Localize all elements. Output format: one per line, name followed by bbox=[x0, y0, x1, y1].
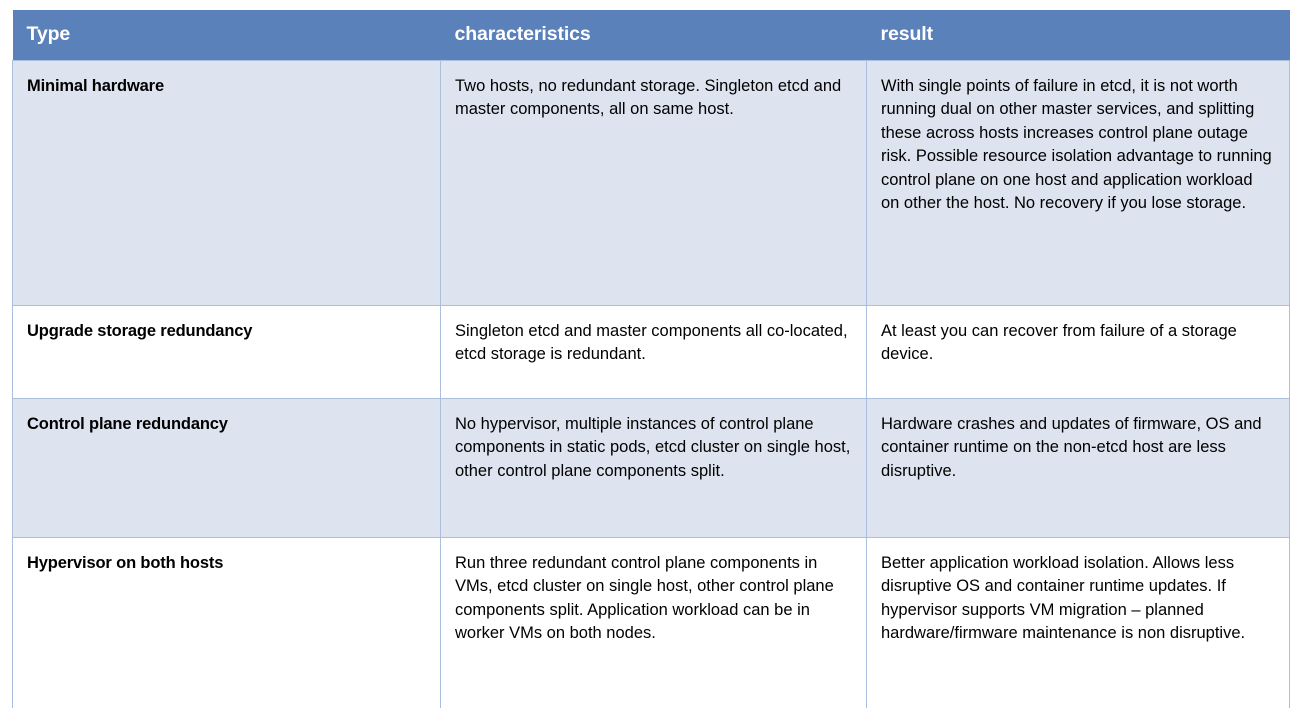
cell-type-text: Minimal hardware bbox=[27, 75, 426, 98]
cell-result-text: At least you can recover from failure of… bbox=[881, 320, 1275, 367]
cell-result: At least you can recover from failure of… bbox=[867, 306, 1290, 399]
cell-result: With single points of failure in etcd, i… bbox=[867, 61, 1290, 306]
cell-characteristics-text: Two hosts, no redundant storage. Singlet… bbox=[455, 75, 852, 122]
cell-characteristics-text: Singleton etcd and master components all… bbox=[455, 320, 852, 367]
cell-type: Minimal hardware bbox=[13, 61, 441, 306]
cell-type: Upgrade storage redundancy bbox=[13, 306, 441, 399]
cell-result-text: Hardware crashes and updates of firmware… bbox=[881, 413, 1275, 483]
table-row: Minimal hardware Two hosts, no redundant… bbox=[13, 61, 1290, 306]
page-root: Type characteristics result Minimal hard… bbox=[0, 0, 1302, 708]
table-header-row: Type characteristics result bbox=[13, 10, 1290, 61]
cell-type-text: Control plane redundancy bbox=[27, 413, 426, 436]
table-row: Control plane redundancy No hypervisor, … bbox=[13, 399, 1290, 538]
cell-type: Hypervisor on both hosts bbox=[13, 538, 441, 708]
cell-characteristics: No hypervisor, multiple instances of con… bbox=[441, 399, 867, 538]
cell-result: Better application workload isolation. A… bbox=[867, 538, 1290, 708]
table-header: Type characteristics result bbox=[13, 10, 1290, 61]
cell-characteristics-text: Run three redundant control plane compon… bbox=[455, 552, 852, 646]
column-header-type: Type bbox=[13, 10, 441, 61]
cell-type-text: Upgrade storage redundancy bbox=[27, 320, 426, 343]
table-body: Minimal hardware Two hosts, no redundant… bbox=[13, 61, 1290, 708]
cell-result: Hardware crashes and updates of firmware… bbox=[867, 399, 1290, 538]
cell-characteristics-text: No hypervisor, multiple instances of con… bbox=[455, 413, 852, 483]
cell-result-text: Better application workload isolation. A… bbox=[881, 552, 1275, 646]
table-row: Hypervisor on both hosts Run three redun… bbox=[13, 538, 1290, 708]
cell-characteristics: Singleton etcd and master components all… bbox=[441, 306, 867, 399]
high-availability-options-table: Type characteristics result Minimal hard… bbox=[12, 10, 1290, 708]
column-header-characteristics: characteristics bbox=[441, 10, 867, 61]
table-row: Upgrade storage redundancy Singleton etc… bbox=[13, 306, 1290, 399]
cell-characteristics: Two hosts, no redundant storage. Singlet… bbox=[441, 61, 867, 306]
cell-type-text: Hypervisor on both hosts bbox=[27, 552, 426, 575]
column-header-result: result bbox=[867, 10, 1290, 61]
cell-characteristics: Run three redundant control plane compon… bbox=[441, 538, 867, 708]
cell-type: Control plane redundancy bbox=[13, 399, 441, 538]
cell-result-text: With single points of failure in etcd, i… bbox=[881, 75, 1275, 216]
